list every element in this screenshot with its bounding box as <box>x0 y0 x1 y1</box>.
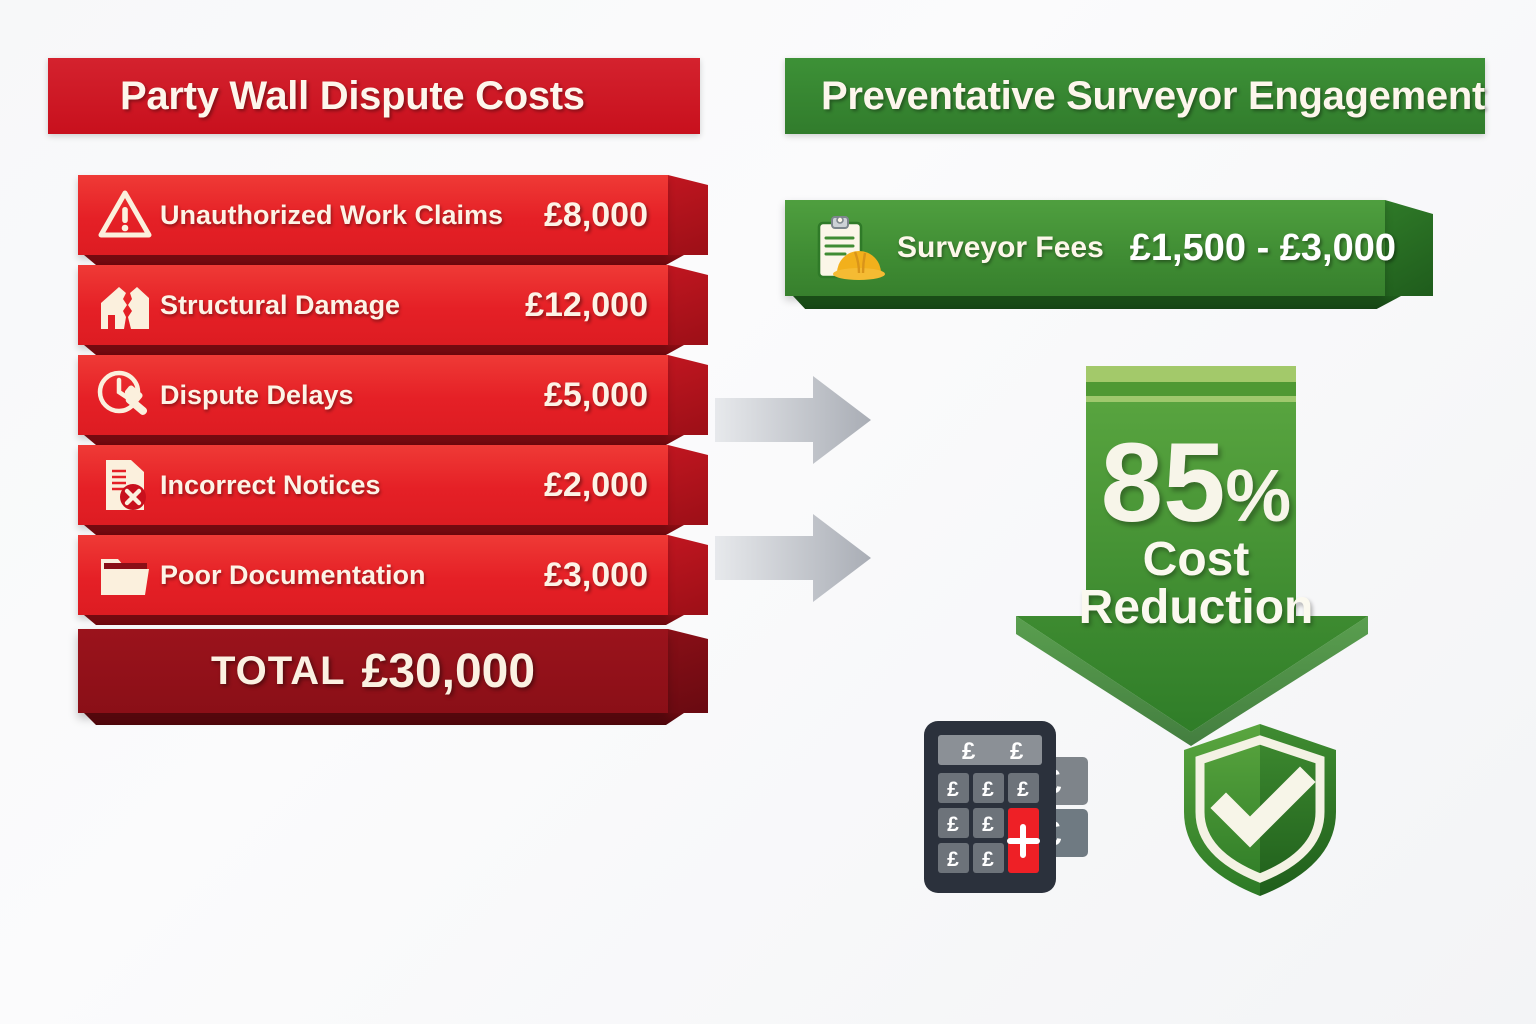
bar-bevel <box>668 355 708 435</box>
cost-label: Incorrect Notices <box>154 470 544 501</box>
svg-text:£: £ <box>982 848 994 871</box>
surveyor-fee-bar: Surveyor Fees £1,500 - £3,000 <box>785 200 1385 296</box>
cost-breakdown-list: Unauthorized Work Claims £8,000 Structur… <box>78 175 708 727</box>
cost-label: Dispute Delays <box>154 380 544 411</box>
svg-text:£: £ <box>947 813 959 836</box>
shield-check-icon <box>1178 720 1343 900</box>
arrow-right-icon <box>715 508 875 608</box>
total-bevel <box>668 629 708 713</box>
warning-triangle-icon <box>96 186 154 244</box>
cost-bar-structural-damage: Structural Damage £12,000 <box>78 265 668 345</box>
surveyor-fee-row: Surveyor Fees £1,500 - £3,000 <box>785 200 1425 312</box>
bar-bevel <box>668 535 708 615</box>
cost-value: £8,000 <box>544 196 648 235</box>
clipboard-hardhat-icon <box>811 213 887 283</box>
calculator-icon: £ £ £ £ £££ ££ ££ <box>920 715 1140 900</box>
total-row: TOTAL £30,000 <box>78 629 708 727</box>
svg-text:£: £ <box>1017 778 1029 801</box>
cost-row: Unauthorized Work Claims £8,000 <box>78 175 708 263</box>
bar-underside <box>84 435 684 445</box>
svg-text:£: £ <box>947 848 959 871</box>
cost-label: Poor Documentation <box>154 560 544 591</box>
svg-text:£: £ <box>1010 738 1024 765</box>
cost-bar-dispute-delays: Dispute Delays £5,000 <box>78 355 668 435</box>
cost-row: Poor Documentation £3,000 <box>78 535 708 623</box>
total-value: £30,000 <box>362 644 536 699</box>
left-panel-header: Party Wall Dispute Costs <box>48 58 700 134</box>
cost-value: £12,000 <box>525 286 648 325</box>
bar-underside <box>84 255 684 265</box>
bar-bevel <box>668 445 708 525</box>
cracked-house-icon <box>96 276 154 334</box>
right-panel-header: Preventative Surveyor Engagement <box>785 58 1485 134</box>
cost-value: £5,000 <box>544 376 648 415</box>
cost-row: Dispute Delays £5,000 <box>78 355 708 443</box>
cost-label: Structural Damage <box>154 290 525 321</box>
cost-bar-unauthorized-work-claims: Unauthorized Work Claims £8,000 <box>78 175 668 255</box>
cost-label: Unauthorized Work Claims <box>154 200 544 231</box>
total-label: TOTAL <box>211 649 346 694</box>
cost-row: Incorrect Notices £2,000 <box>78 445 708 533</box>
arrow-right-icon <box>715 370 875 470</box>
cost-bar-incorrect-notices: Incorrect Notices £2,000 <box>78 445 668 525</box>
cost-row: Structural Damage £12,000 <box>78 265 708 353</box>
cost-value: £2,000 <box>544 466 648 505</box>
right-header-title: Preventative Surveyor Engagement <box>821 74 1485 119</box>
folder-icon <box>96 546 154 604</box>
arrow-down-icon <box>1016 366 1376 746</box>
cost-value: £3,000 <box>544 556 648 595</box>
svg-text:£: £ <box>982 778 994 801</box>
svg-text:£: £ <box>962 738 976 765</box>
cost-bar-poor-documentation: Poor Documentation £3,000 <box>78 535 668 615</box>
svg-text:£: £ <box>947 778 959 801</box>
bar-bevel <box>668 265 708 345</box>
document-error-icon <box>96 456 154 514</box>
total-cost-bar: TOTAL £30,000 <box>78 629 668 713</box>
fee-underside <box>793 296 1401 309</box>
infographic-canvas: Party Wall Dispute Costs Preventative Su… <box>0 0 1536 1024</box>
fee-value: £1,500 - £3,000 <box>1130 227 1396 270</box>
total-underside <box>84 713 684 725</box>
fee-label: Surveyor Fees <box>897 231 1104 265</box>
bar-underside <box>84 615 684 625</box>
bar-bevel <box>668 175 708 255</box>
svg-text:£: £ <box>982 813 994 836</box>
left-header-title: Party Wall Dispute Costs <box>120 74 585 119</box>
bar-underside <box>84 345 684 355</box>
clock-gavel-icon <box>96 366 154 424</box>
bar-underside <box>84 525 684 535</box>
